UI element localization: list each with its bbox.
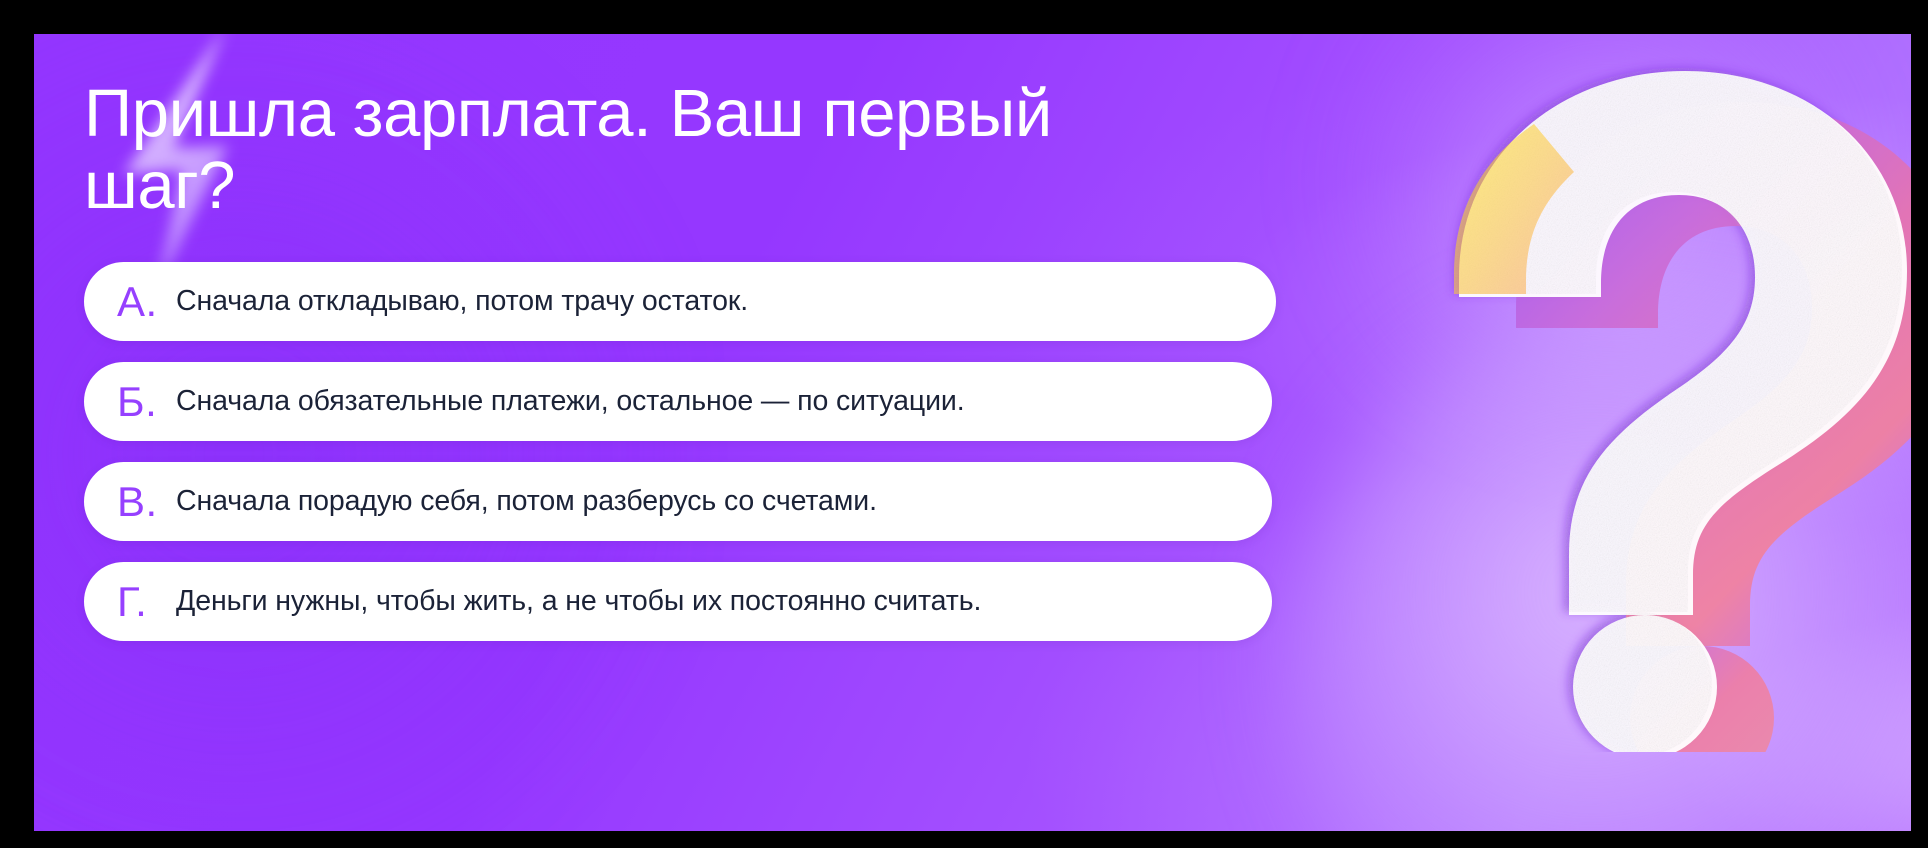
options-list: А. Сначала откладываю, потом трачу остат… bbox=[84, 262, 1314, 641]
option-row-g[interactable]: Г. Деньги нужны, чтобы жить, а не чтобы … bbox=[84, 562, 1272, 641]
content-column: Пришла зарплата. Ваш первый шаг? А. Снач… bbox=[84, 34, 1404, 848]
page-title: Пришла зарплата. Ваш первый шаг? bbox=[84, 78, 1104, 223]
option-letter-a: А. bbox=[84, 281, 176, 323]
option-letter-v: В. bbox=[84, 481, 176, 523]
option-row-v[interactable]: В. Сначала порадую себя, потом разберусь… bbox=[84, 462, 1272, 541]
option-text-b: Сначала обязательные платежи, остальное … bbox=[176, 384, 1272, 418]
option-letter-g: Г. bbox=[84, 581, 176, 623]
option-row-a[interactable]: А. Сначала откладываю, потом трачу остат… bbox=[84, 262, 1276, 341]
option-row-b[interactable]: Б. Сначала обязательные платежи, остальн… bbox=[84, 362, 1272, 441]
quiz-stage: Пришла зарплата. Ваш первый шаг? А. Снач… bbox=[34, 34, 1928, 848]
option-text-g: Деньги нужны, чтобы жить, а не чтобы их … bbox=[176, 584, 1272, 618]
option-letter-b: Б. bbox=[84, 381, 176, 423]
quiz-card-frame: Пришла зарплата. Ваш первый шаг? А. Снач… bbox=[0, 0, 1928, 848]
option-text-v: Сначала порадую себя, потом разберусь со… bbox=[176, 484, 1272, 518]
option-text-a: Сначала откладываю, потом трачу остаток. bbox=[176, 284, 1276, 318]
